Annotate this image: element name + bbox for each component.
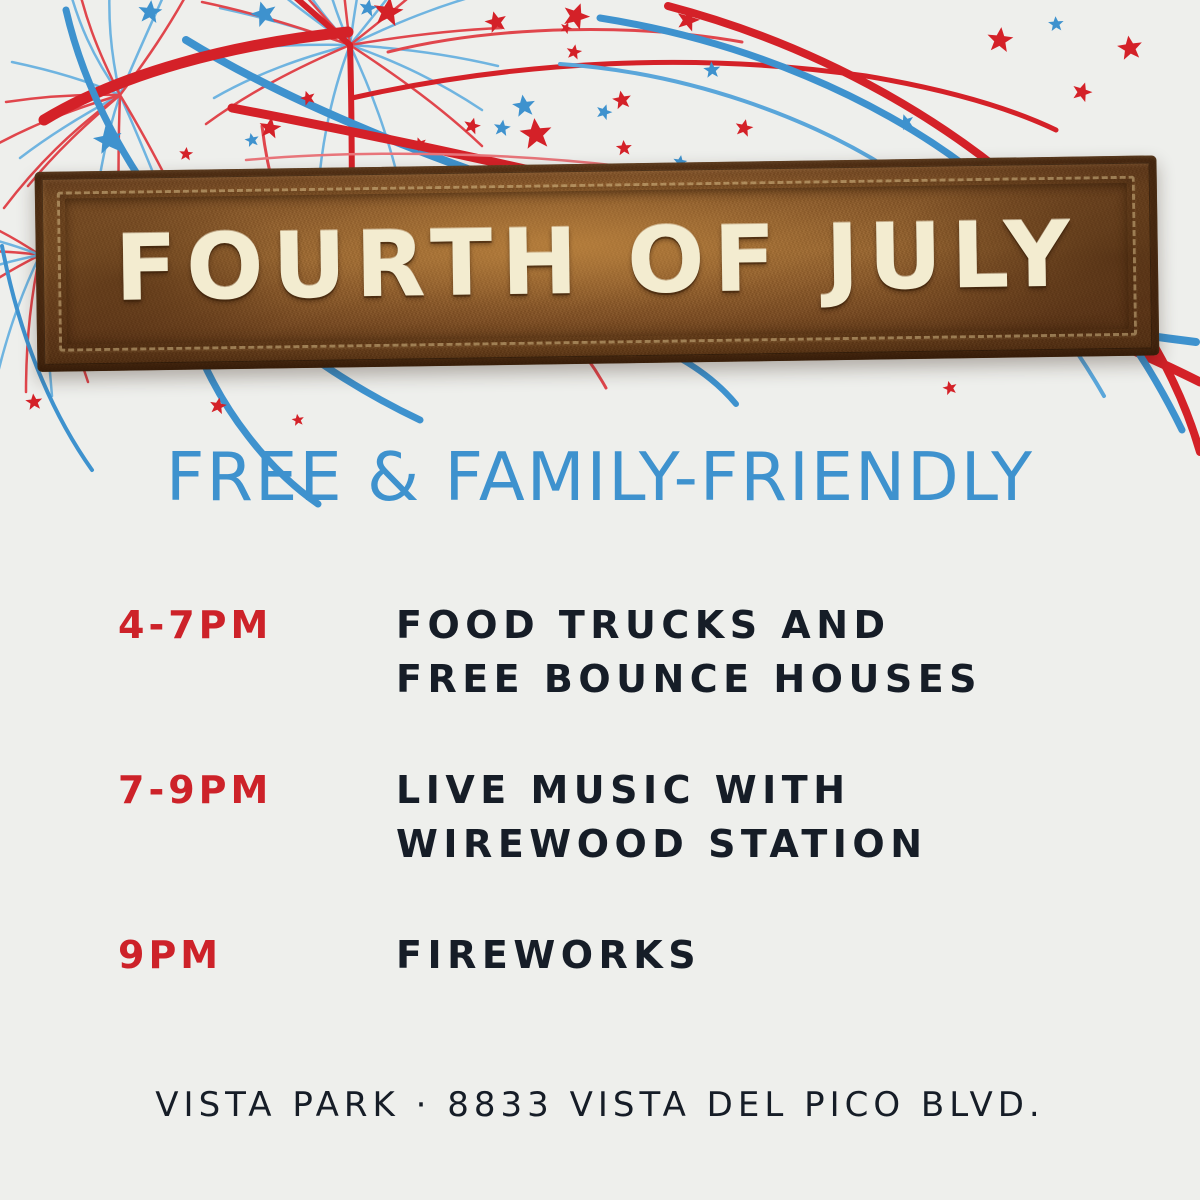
schedule-time: 4-7PM (118, 598, 396, 652)
schedule-description: FOOD TRUCKS AND FREE BOUNCE HOUSES (396, 598, 982, 706)
schedule-description-line1: FIREWORKS (396, 933, 701, 977)
event-schedule-list: 4-7PM FOOD TRUCKS AND FREE BOUNCE HOUSES… (118, 598, 1118, 982)
banner-title-text: FOURTH OF JULY (35, 155, 1160, 372)
schedule-description: FIREWORKS (396, 928, 701, 982)
schedule-time: 7-9PM (118, 763, 396, 817)
schedule-description-line1: FOOD TRUCKS AND (396, 603, 891, 647)
venue-address: VISTA PARK · 8833 VISTA DEL PICO BLVD. (0, 1085, 1200, 1125)
schedule-time: 9PM (118, 928, 396, 982)
headline-free-family-friendly: FREE & FAMILY-FRIENDLY (0, 438, 1200, 516)
fourth-of-july-banner: FOURTH OF JULY (35, 155, 1160, 372)
schedule-description: LIVE MUSIC WITH WIREWOOD STATION (396, 763, 928, 871)
schedule-row: 7-9PM LIVE MUSIC WITH WIREWOOD STATION (118, 763, 1118, 871)
schedule-description-line2: FREE BOUNCE HOUSES (396, 652, 982, 706)
schedule-description-line1: LIVE MUSIC WITH (396, 768, 851, 812)
schedule-description-line2: WIREWOOD STATION (396, 817, 928, 871)
schedule-row: 4-7PM FOOD TRUCKS AND FREE BOUNCE HOUSES (118, 598, 1118, 706)
schedule-row: 9PM FIREWORKS (118, 928, 1118, 982)
poster-canvas: FOURTH OF JULY FREE & FAMILY-FRIENDLY 4-… (0, 0, 1200, 1200)
